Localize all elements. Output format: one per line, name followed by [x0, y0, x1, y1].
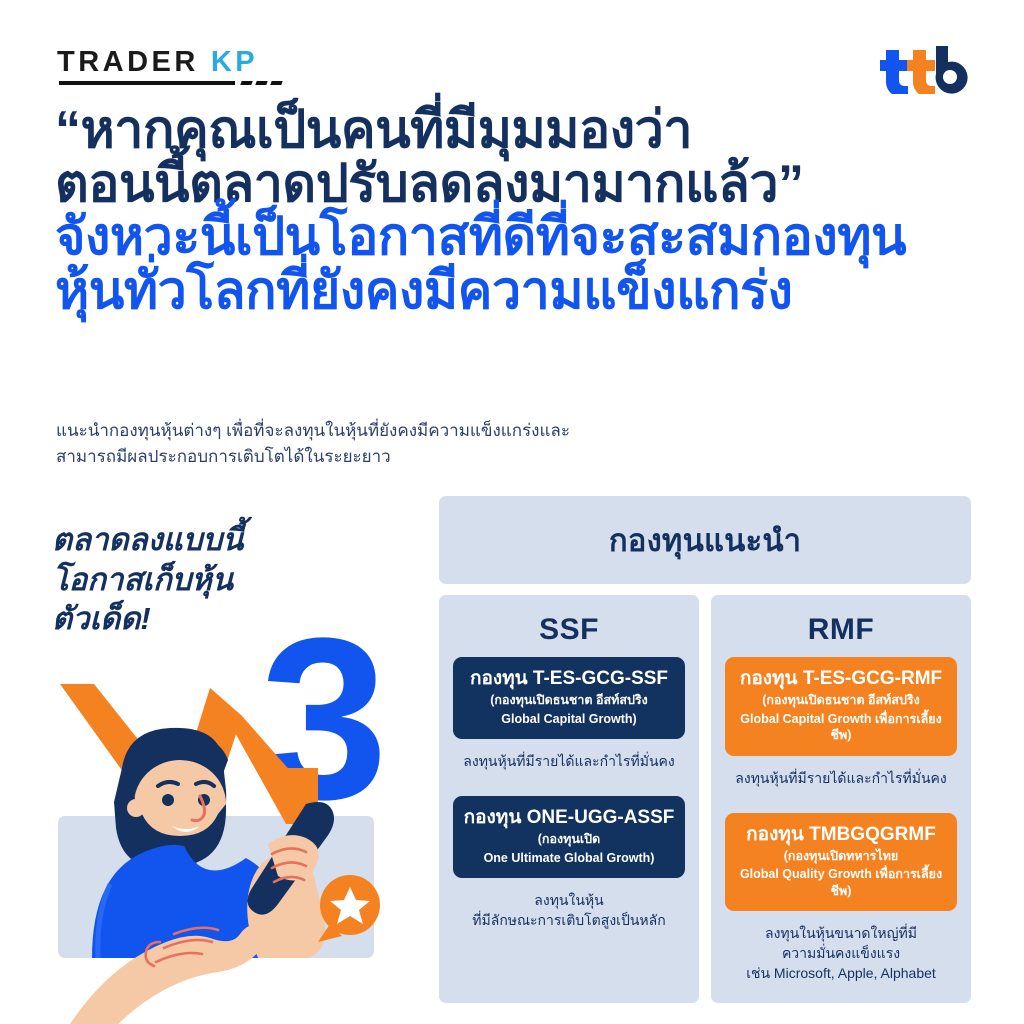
- fund-subtitle-line-2: Global Capital Growth เพื่อการเลี้ยงชีพ): [733, 711, 949, 744]
- fund-card-one-ugg-assf[interactable]: กองทุน ONE-UGG-ASSF (กองทุนเปิด One Ulti…: [453, 796, 685, 878]
- fund-card-t-es-gcg-ssf[interactable]: กองทุน T-ES-GCG-SSF (กองทุนเปิดธนชาต อีส…: [453, 657, 685, 739]
- fund-card-t-es-gcg-rmf[interactable]: กองทุน T-ES-GCG-RMF (กองทุนเปิดธนชาต อีส…: [725, 657, 957, 756]
- fund-subtitle-line-2: Global Quality Growth เพื่อการเลี้ยงชีพ): [733, 866, 949, 899]
- fund-desc-line-1: ลงทุนหุ้นที่มีรายได้และกำไรที่มั่นคง: [723, 769, 959, 789]
- ttb-letter-b-navy: [936, 46, 968, 94]
- headline-line-2: ตอนนี้ตลาดปรับลดลงมามากแล้ว”: [55, 158, 985, 212]
- column-title-ssf: SSF: [539, 615, 599, 645]
- fund-subtitle-line-2: Global Capital Growth): [461, 711, 677, 728]
- fund-desc-line-1: ลงทุนในหุ้นขนาดใหญ่ที่มี: [723, 924, 959, 944]
- headline-line-4: หุ้นทั่วโลกที่ยังคงมีความแข็งแกร่ง: [55, 265, 985, 319]
- recommended-funds-panel: กองทุนแนะนำ SSF กองทุน T-ES-GCG-SSF (กอง…: [439, 496, 971, 996]
- fund-subtitle-line-1: (กองทุนเปิดธนชาต อีสท์สปริง: [461, 692, 677, 709]
- trader-kp-wordmark: TRADER KP: [57, 48, 317, 77]
- fund-columns: SSF กองทุน T-ES-GCG-SSF (กองทุนเปิดธนชาต…: [439, 595, 971, 1003]
- fund-name: กองทุน ONE-UGG-ASSF: [461, 807, 677, 829]
- fund-description-tmbgqgrmf: ลงทุนในหุ้นขนาดใหญ่ที่มี ความมั่นคงแข็งแ…: [723, 924, 959, 983]
- page-title: “หากคุณเป็นคนที่มีมุมมองว่า ตอนนี้ตลาดปร…: [55, 104, 985, 318]
- fund-desc-line-1: ลงทุนในหุ้น: [451, 891, 687, 911]
- kicker-line-2: โอกาสเก็บหุ้น: [52, 560, 382, 600]
- fund-column-rmf: RMF กองทุน T-ES-GCG-RMF (กองทุนเปิดธนชาต…: [711, 595, 971, 1003]
- fund-name: กองทุน T-ES-GCG-RMF: [733, 668, 949, 690]
- ttb-letter-t-orange: [907, 50, 935, 94]
- column-title-rmf: RMF: [808, 615, 874, 645]
- logo-dash-2: [255, 81, 267, 85]
- ttb-logo: [880, 44, 968, 94]
- fund-desc-line-1: ลงทุนหุ้นที่มีรายได้และกำไรที่มั่นคง: [451, 752, 687, 772]
- fund-subtitle-line-1: (กองทุนเปิด: [461, 831, 677, 848]
- logo-dash-1: [240, 81, 252, 85]
- logo-underline: [59, 81, 235, 85]
- fund-subtitle-line-1: (กองทุนเปิดธนชาต อีสท์สปริง: [733, 692, 949, 709]
- fund-desc-line-2: ความมั่นคงแข็งแรง: [723, 944, 959, 964]
- subtitle: แนะนำกองทุนหุ้นต่างๆ เพื่อที่จะลงทุนในหุ…: [56, 418, 696, 471]
- illustration: 3: [52, 628, 452, 1024]
- trader-kp-logo: TRADER KP: [57, 48, 317, 94]
- kicker-text: ตลาดลงแบบนี้ โอกาสเก็บหุ้น ตัวเด็ด!: [52, 520, 382, 639]
- fund-subtitle-line-2: One Ultimate Global Growth): [461, 850, 677, 867]
- fund-subtitle-line-1: (กองทุนเปิดทหารไทย: [733, 848, 949, 865]
- headline-line-3: จังหวะนี้เป็นโอกาสที่ดีที่จะสะสมกองทุน: [55, 211, 985, 265]
- ttb-letter-t-blue: [880, 50, 908, 94]
- fund-name: กองทุน TMBGQGRMF: [733, 824, 949, 846]
- fund-card-tmbgqgrmf[interactable]: กองทุน TMBGQGRMF (กองทุนเปิดทหารไทย Glob…: [725, 813, 957, 912]
- logo-dash-3: [270, 81, 282, 85]
- eye-left: [162, 794, 174, 806]
- trader-text: TRADER: [57, 48, 199, 77]
- fund-name: กองทุน T-ES-GCG-SSF: [461, 668, 677, 690]
- fund-desc-line-3: เช่น Microsoft, Apple, Alphabet: [723, 964, 959, 984]
- fund-description-t-es-gcg-ssf: ลงทุนหุ้นที่มีรายได้และกำไรที่มั่นคง: [451, 752, 687, 772]
- kicker-line-1: ตลาดลงแบบนี้: [52, 520, 382, 560]
- panel-header: กองทุนแนะนำ: [439, 496, 971, 584]
- kp-text: KP: [211, 48, 258, 77]
- fund-column-ssf: SSF กองทุน T-ES-GCG-SSF (กองทุนเปิดธนชาต…: [439, 595, 699, 1003]
- infographic-canvas: TRADER KP “หากคุณเป็นคนที่มีมุมมองว่า ตอ…: [0, 0, 1024, 1024]
- fund-desc-line-2: ที่มีลักษณะการเติบโตสูงเป็นหลัก: [451, 911, 687, 931]
- fund-description-t-es-gcg-rmf: ลงทุนหุ้นที่มีรายได้และกำไรที่มั่นคง: [723, 769, 959, 789]
- headline-line-1: “หากคุณเป็นคนที่มีมุมมองว่า: [55, 104, 985, 158]
- panel-title: กองทุนแนะนำ: [609, 515, 801, 565]
- subtitle-line-1: แนะนำกองทุนหุ้นต่างๆ เพื่อที่จะลงทุนในหุ…: [56, 418, 696, 444]
- fund-description-one-ugg-assf: ลงทุนในหุ้น ที่มีลักษณะการเติบโตสูงเป็นห…: [451, 891, 687, 930]
- subtitle-line-2: สามารถมีผลประกอบการเติบโตได้ในระยะยาว: [56, 444, 696, 470]
